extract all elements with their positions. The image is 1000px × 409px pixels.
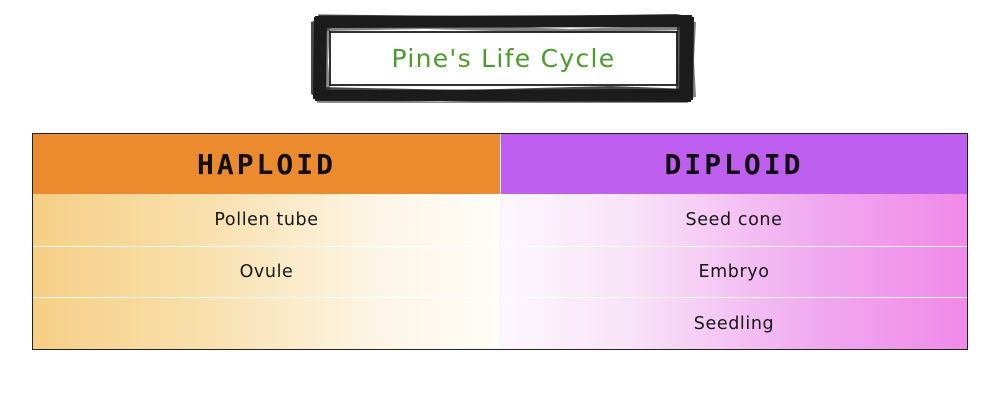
column-haploid: Pollen tube Ovule (33, 194, 500, 349)
table-header-row: HAPLOID DIPLOID (33, 134, 967, 194)
table-cell: Embryo (501, 246, 967, 298)
column-header-haploid: HAPLOID (33, 134, 500, 194)
page-title: Pine's Life Cycle (311, 14, 696, 103)
table-cell: Seed cone (501, 194, 967, 246)
ploidy-comparison-table: HAPLOID DIPLOID Pollen tube Ovule Seed c… (32, 133, 968, 350)
table-body: Pollen tube Ovule Seed cone Embryo Seedl… (33, 194, 967, 349)
table-cell: Pollen tube (33, 194, 500, 246)
table-cell: Seedling (501, 297, 967, 349)
column-diploid: Seed cone Embryo Seedling (500, 194, 967, 349)
column-header-diploid: DIPLOID (500, 134, 967, 194)
title-banner: Pine's Life Cycle (311, 14, 696, 103)
table-cell: Ovule (33, 246, 500, 298)
table-cell (33, 297, 500, 349)
